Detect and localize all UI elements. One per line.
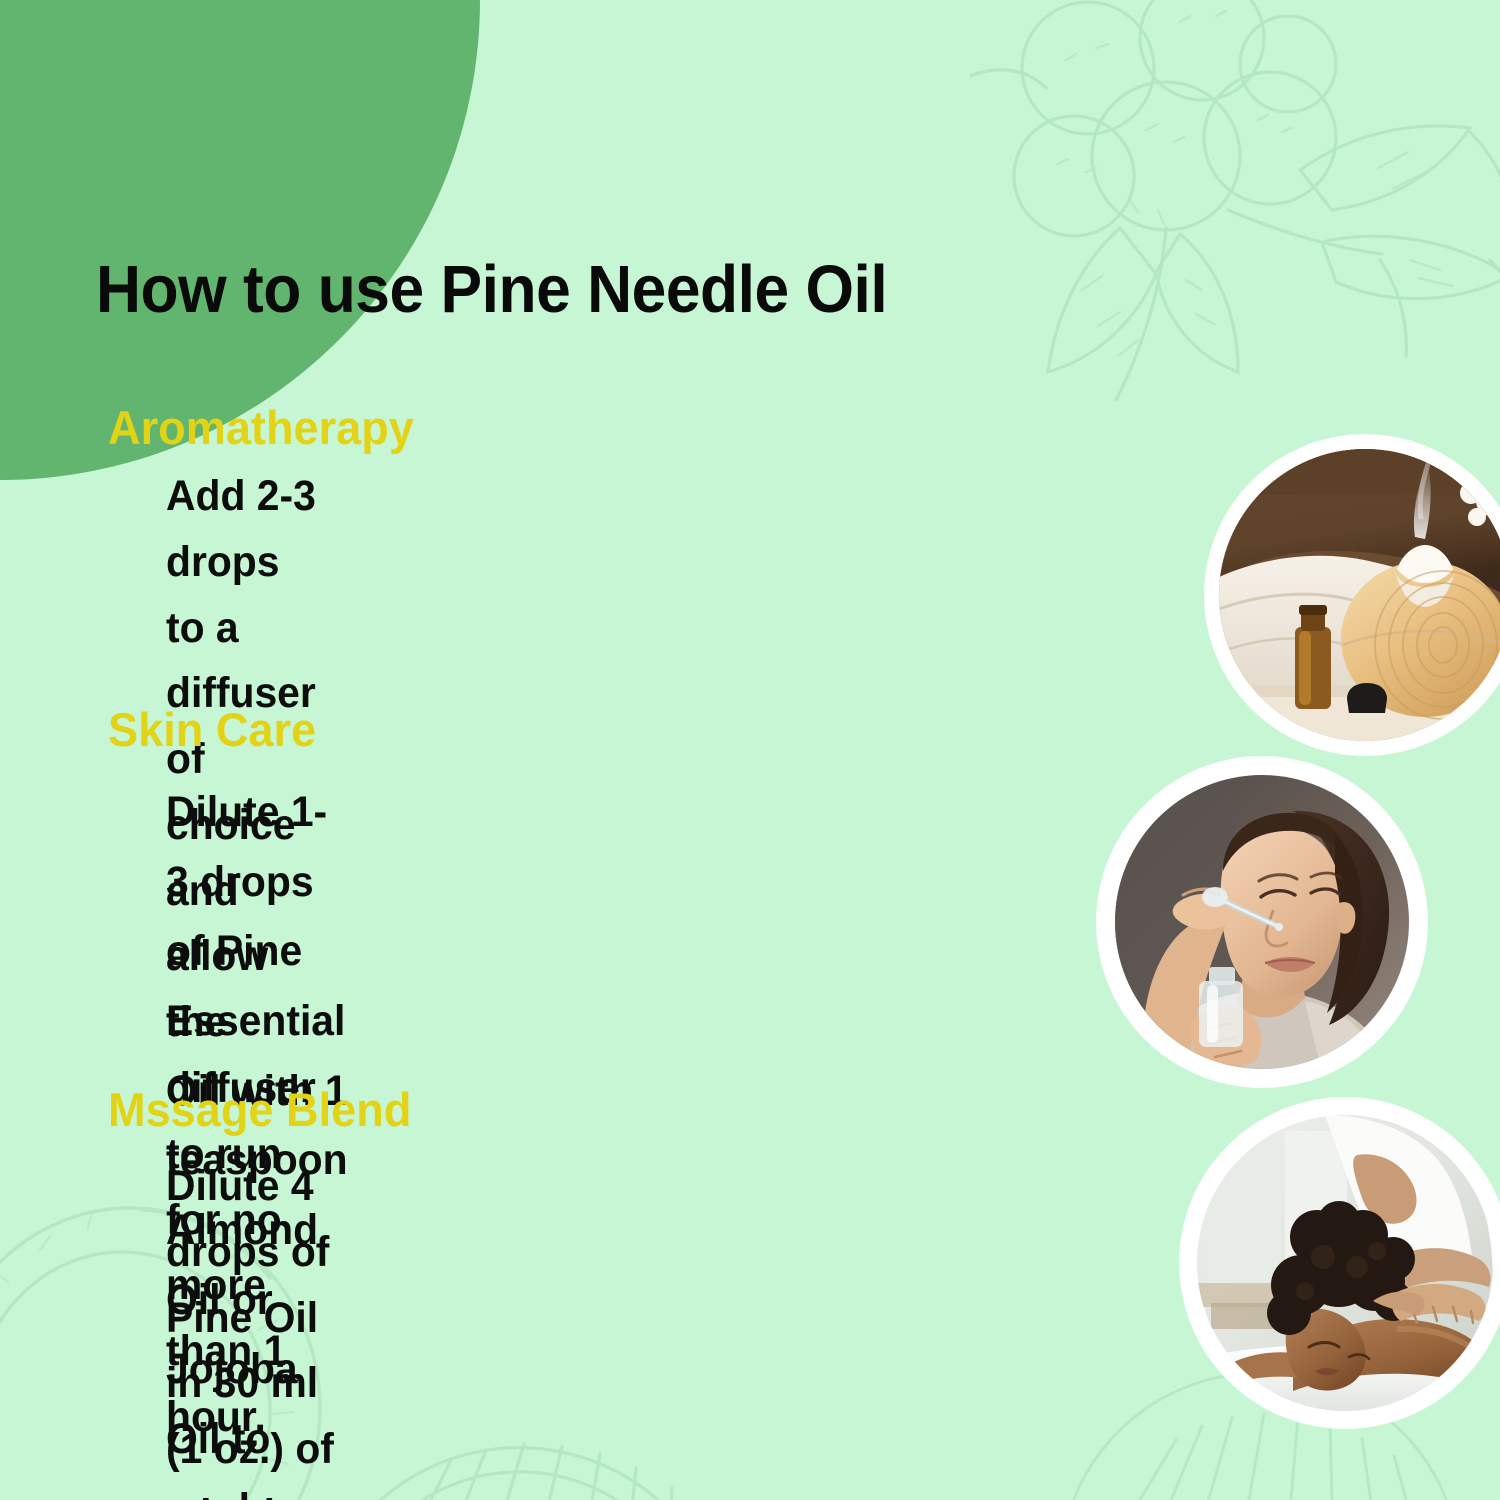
- photo-massage-therapy-image: [1197, 1115, 1493, 1411]
- berries-branch-line-art-icon: [970, 0, 1500, 430]
- section-heading-aromatherapy: Aromatherapy: [108, 404, 414, 451]
- page-title: How to use Pine Needle Oil: [96, 256, 887, 323]
- photo-aromatherapy-diffuser-image: [1219, 449, 1500, 741]
- infographic-poster: How to use Pine Needle Oil Aromatherapy …: [0, 0, 1500, 1500]
- photo-aromatherapy-diffuser: [1205, 435, 1500, 755]
- citrus-slice-line-art-icon: [300, 1250, 730, 1500]
- section-heading-massage-blend: Mssage Blend: [108, 1086, 411, 1133]
- photo-skin-care-serum-image: [1115, 775, 1409, 1069]
- photo-massage-therapy: [1180, 1098, 1500, 1428]
- section-body-massage-blend: Dilute 4 drops of Pine Oil in 30 ml (1 o…: [166, 1154, 341, 1500]
- photo-skin-care-serum: [1097, 757, 1427, 1087]
- section-heading-skin-care: Skin Care: [108, 706, 316, 753]
